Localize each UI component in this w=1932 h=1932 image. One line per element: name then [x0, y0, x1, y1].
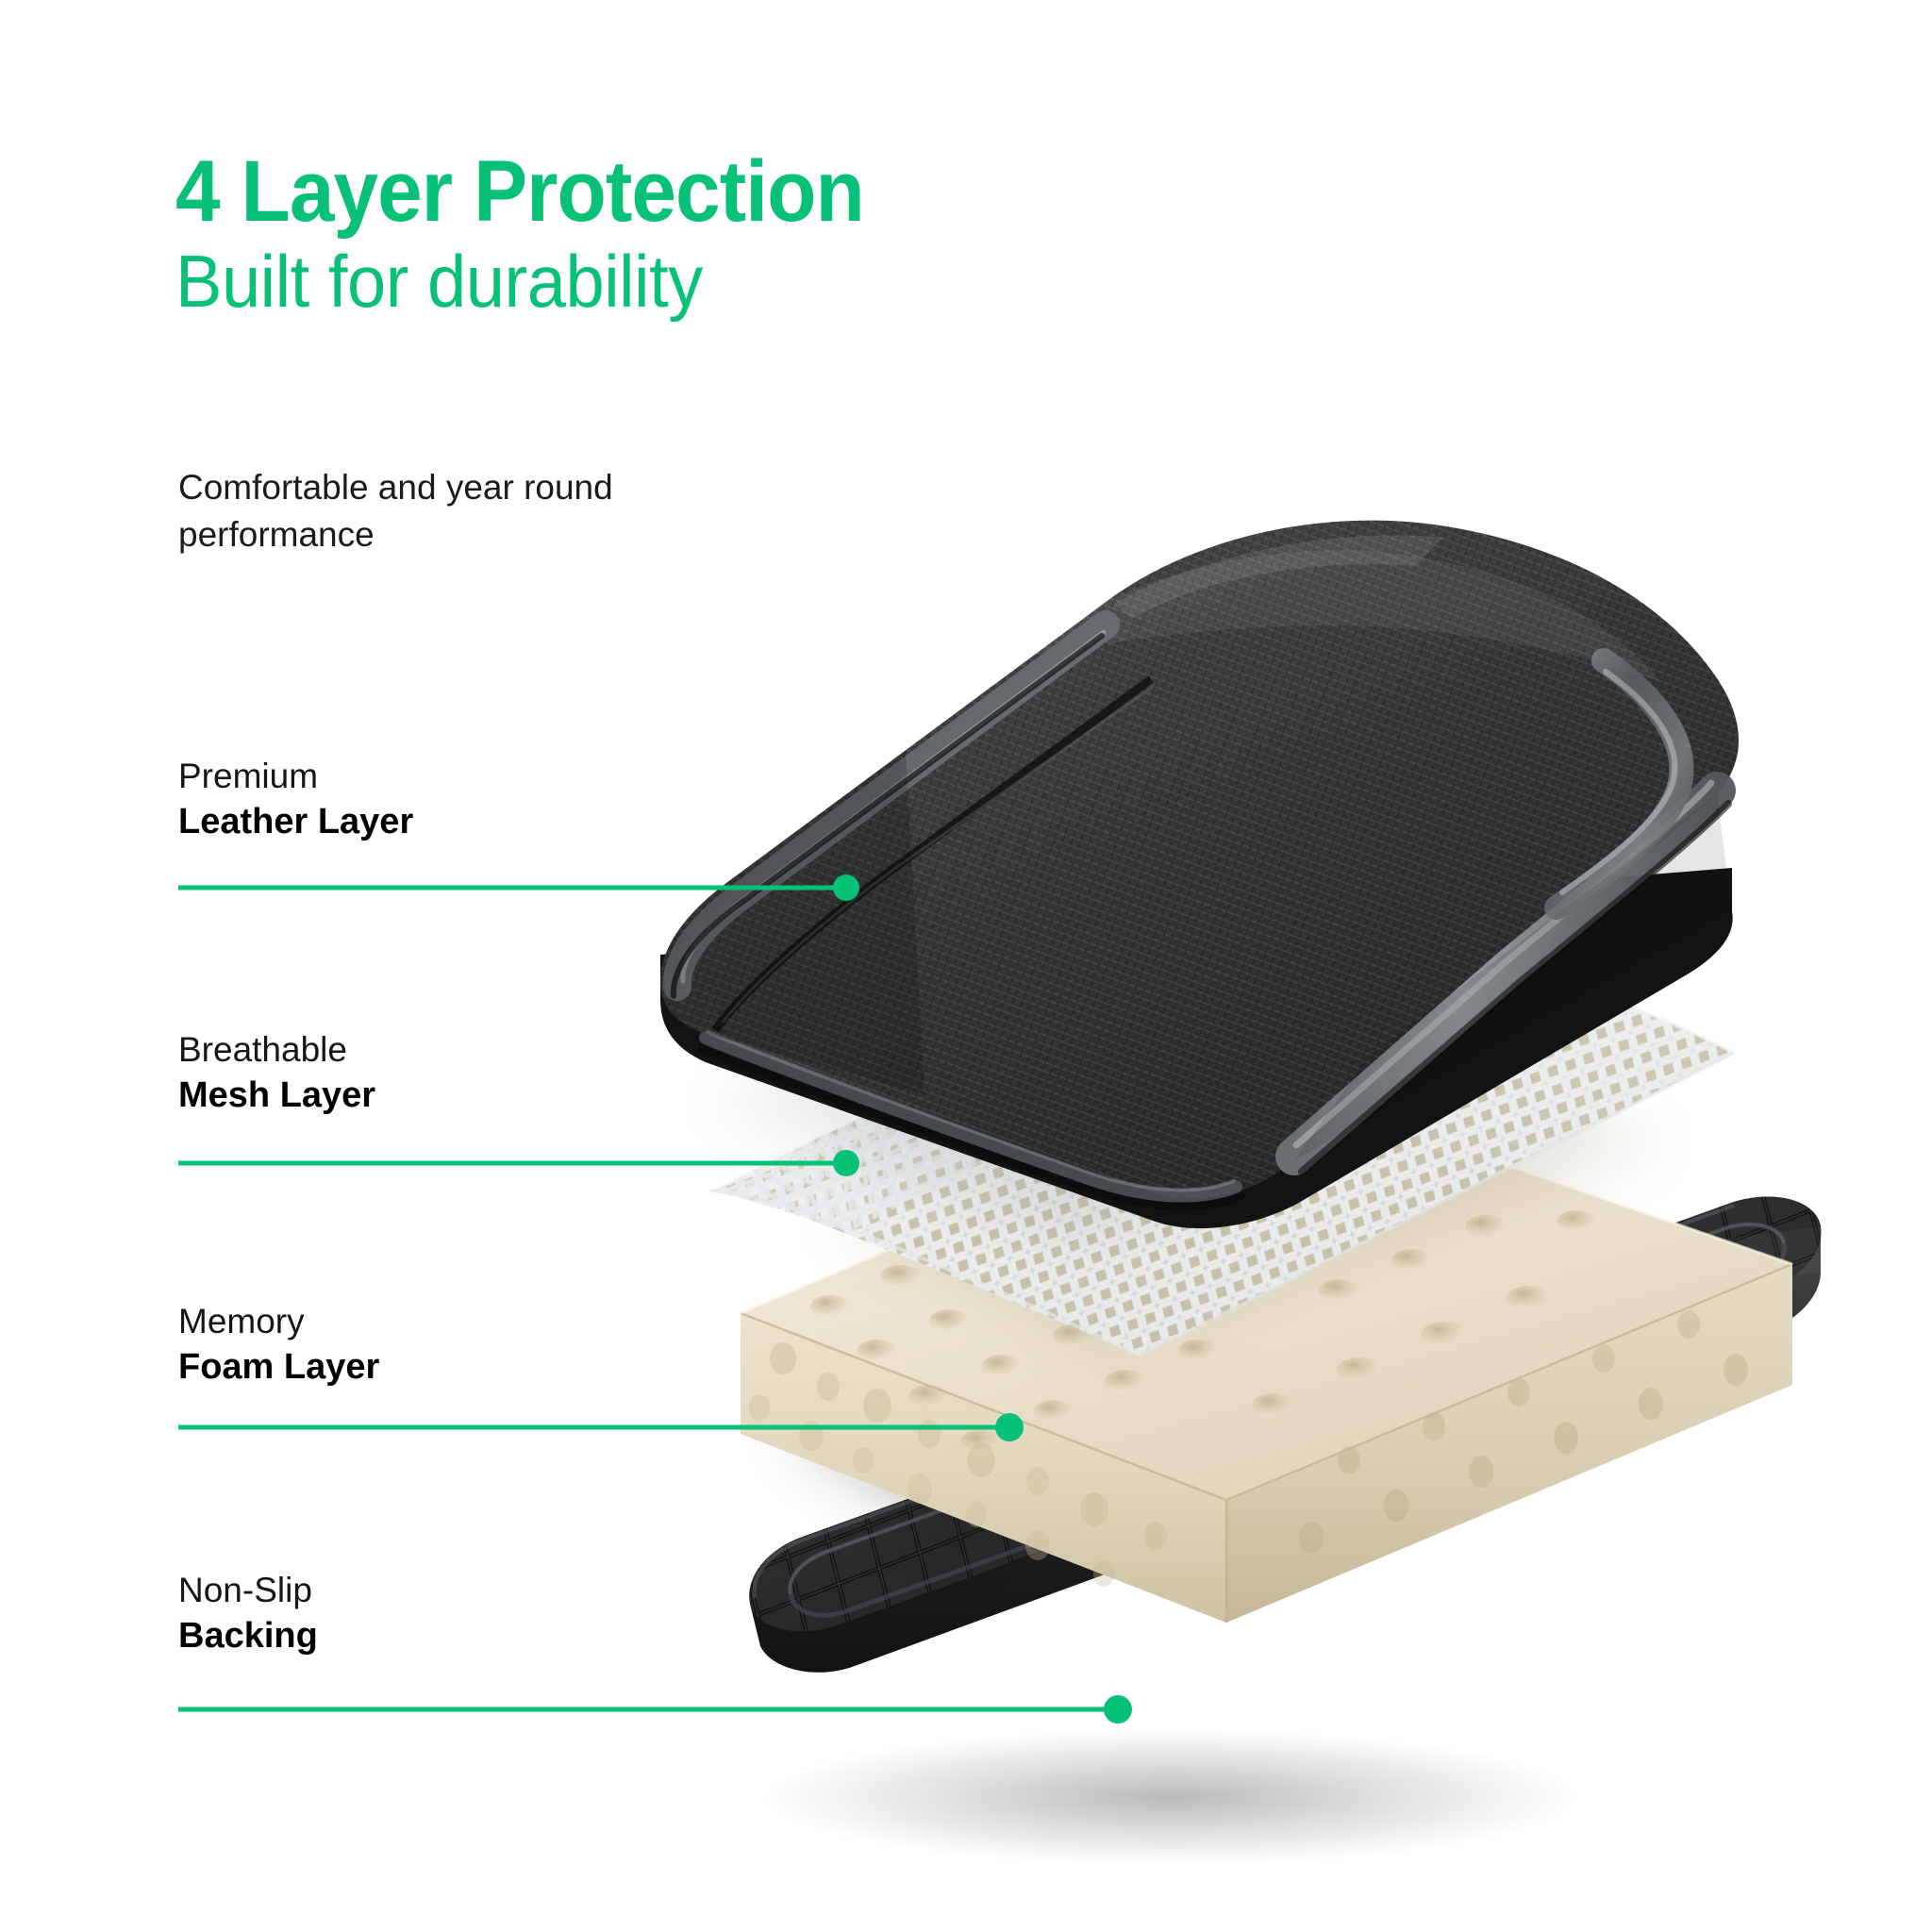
page-subtitle: Built for durability [175, 243, 1161, 321]
infographic-page: 4 Layer Protection Built for durability … [0, 0, 1932, 1932]
callout-leather-prefix: Premium [178, 755, 763, 797]
callout-foam-prefix: Memory [178, 1300, 763, 1342]
callout-mesh-title: Mesh Layer [178, 1074, 763, 1118]
callout-mesh-prefix: Breathable [178, 1028, 763, 1071]
callout-leather-title: Leather Layer [178, 800, 763, 844]
ground-shadow [764, 1729, 1575, 1865]
callout-backing: Non-Slip Backing [178, 1569, 763, 1658]
top-note-text: Comfortable and year round performance [178, 464, 707, 558]
header-block: 4 Layer Protection Built for durability [175, 149, 1213, 321]
callout-backing-title: Backing [178, 1614, 763, 1658]
page-title: 4 Layer Protection [175, 149, 1141, 234]
callout-mesh: Breathable Mesh Layer [178, 1028, 763, 1118]
callout-backing-prefix: Non-Slip [178, 1569, 763, 1611]
callout-foam: Memory Foam Layer [178, 1300, 763, 1390]
callout-leather: Premium Leather Layer [178, 755, 763, 844]
callout-foam-title: Foam Layer [178, 1345, 763, 1390]
